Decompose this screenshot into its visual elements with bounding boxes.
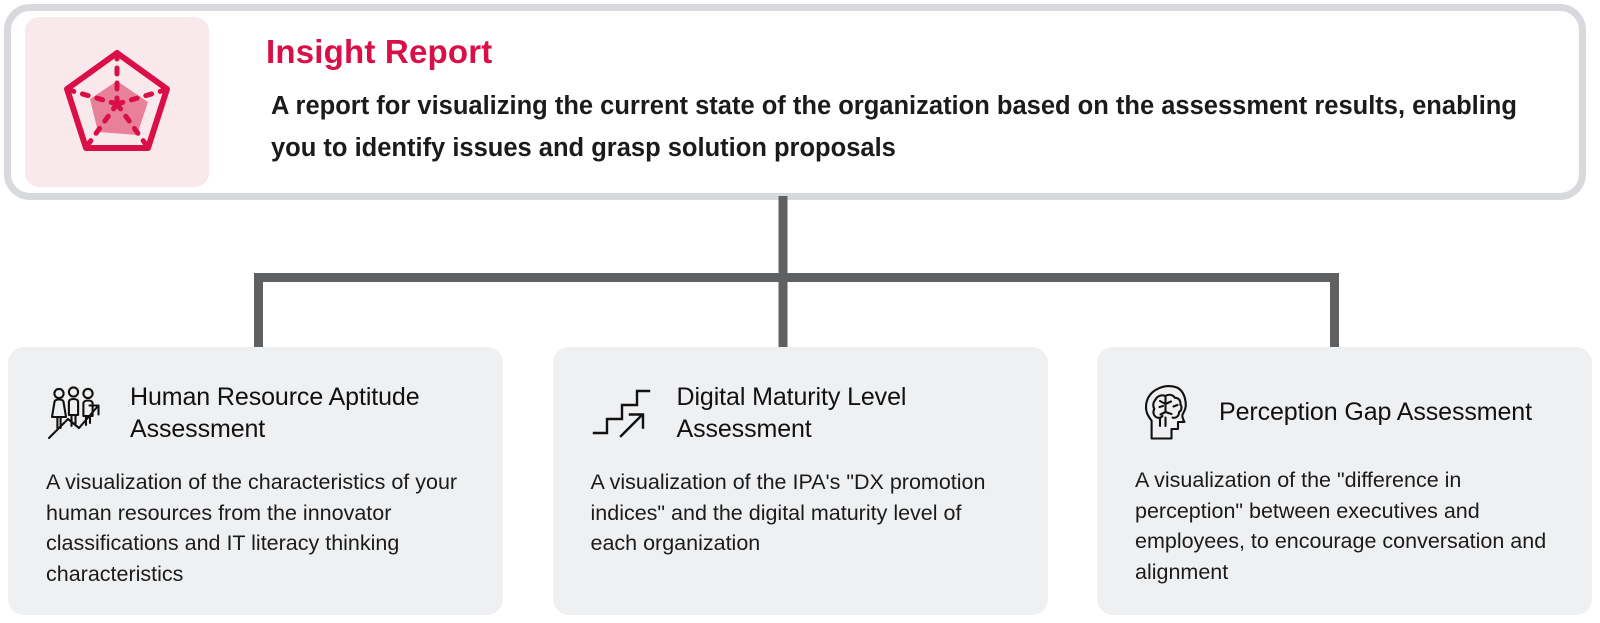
hero-text-block: Insight Report A report for visualizing … <box>266 35 1579 169</box>
card-title: Perception Gap Assessment <box>1219 396 1532 428</box>
hero-description: A report for visualizing the current sta… <box>271 86 1549 169</box>
card-description: A visualization of the IPA's "DX promoti… <box>591 467 1010 559</box>
card-header: Human Resource Aptitude Assessment <box>46 381 465 445</box>
insight-report-hero-card: Insight Report A report for visualizing … <box>4 4 1586 200</box>
connector-lines <box>0 196 1600 356</box>
people-growth-chart-icon <box>46 384 108 442</box>
card-description: A visualization of the characteristics o… <box>46 467 465 589</box>
card-title: Human Resource Aptitude Assessment <box>130 381 465 445</box>
card-header: Perception Gap Assessment <box>1135 381 1554 443</box>
assessment-card-perception-gap[interactable]: Perception Gap Assessment A visualizatio… <box>1097 347 1592 615</box>
hero-icon-container <box>25 17 209 187</box>
assessment-cards-row: Human Resource Aptitude Assessment A vis… <box>8 347 1592 615</box>
insight-report-diagram: Insight Report A report for visualizing … <box>0 0 1600 623</box>
stairs-arrow-up-icon <box>591 384 653 442</box>
card-title: Digital Maturity Level Assessment <box>677 381 1010 445</box>
assessment-card-human-resource[interactable]: Human Resource Aptitude Assessment A vis… <box>8 347 503 615</box>
head-brain-icon <box>1135 383 1197 441</box>
card-description: A visualization of the "difference in pe… <box>1135 465 1554 587</box>
radar-pentagon-chart-icon <box>61 46 173 159</box>
page-title: Insight Report <box>266 35 1549 68</box>
assessment-card-digital-maturity[interactable]: Digital Maturity Level Assessment A visu… <box>553 347 1048 615</box>
card-header: Digital Maturity Level Assessment <box>591 381 1010 445</box>
